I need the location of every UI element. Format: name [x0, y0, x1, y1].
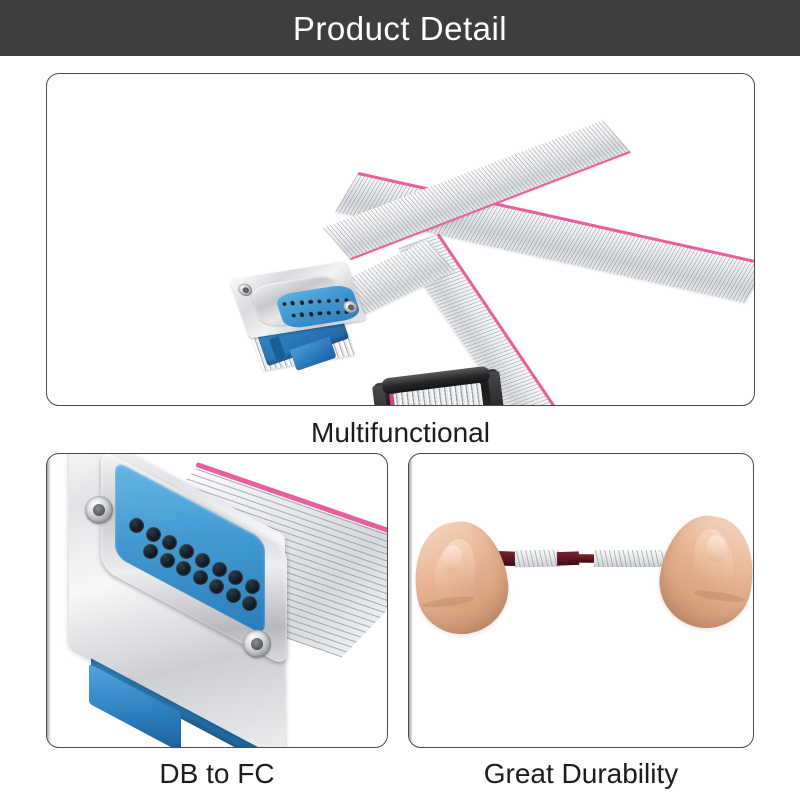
connector-contact-hole	[290, 313, 296, 318]
idc-fc-connector	[373, 363, 505, 406]
caption-db-to-fc: DB to FC	[46, 760, 388, 788]
connector-contact-hole	[335, 310, 341, 315]
ribbon-underside-segment	[557, 551, 580, 565]
connector-contact-hole	[129, 518, 144, 533]
connector-contact-hole	[308, 312, 314, 317]
db15-female-connector-closeup	[63, 474, 333, 724]
product-photo-durability-demo	[409, 454, 753, 747]
connector-contact-hole	[245, 579, 260, 594]
connector-contact-hole	[317, 299, 323, 304]
page-title: Product Detail	[293, 12, 507, 45]
panel-edge-shade	[47, 454, 51, 747]
product-photo-full-cable	[47, 74, 754, 405]
connector-contact-hole	[176, 561, 191, 576]
caption-great-durability: Great Durability	[408, 760, 754, 788]
db15-female-connector-small	[230, 243, 373, 374]
ribbon-topside-segment	[594, 550, 663, 567]
panel-db-to-fc	[46, 453, 388, 748]
connector-contact-hole	[162, 535, 177, 550]
connector-contact-hole	[317, 311, 323, 316]
finger-crease	[693, 588, 746, 604]
connector-contact-hole	[326, 299, 332, 304]
connector-contact-hole	[281, 301, 287, 306]
connector-metal-shell	[249, 273, 350, 328]
connector-contact-hole	[179, 544, 194, 559]
connector-contact-hole	[195, 553, 210, 568]
connector-contact-hole	[326, 311, 332, 316]
ribbon-topside-segment	[515, 550, 560, 568]
connector-contact-hole	[299, 312, 305, 317]
mounting-screw-icon	[243, 630, 271, 658]
connector-contact-hole	[146, 527, 161, 542]
hand-pinching-left	[408, 516, 514, 640]
panel-great-durability	[408, 453, 754, 748]
connector-contact-hole	[226, 588, 241, 603]
connector-contact-hole	[242, 596, 257, 611]
connector-contact-hole	[335, 298, 341, 303]
connector-contact-hole	[160, 553, 175, 568]
connector-contact-hole	[212, 562, 227, 577]
product-photo-connector-closeup	[47, 454, 387, 747]
mounting-screw-icon	[85, 496, 113, 524]
connector-metal-flange	[230, 261, 367, 338]
connector-contact-hole	[143, 544, 158, 559]
hand-pinching-right	[653, 509, 754, 634]
connector-contact-hole	[299, 300, 305, 305]
connector-contact-hole	[290, 301, 296, 306]
connector-body-slot	[269, 336, 286, 360]
connector-contact-hole	[308, 300, 314, 305]
panel-multifunctional	[46, 73, 755, 406]
connector-contact-hole	[193, 570, 208, 585]
connector-contact-hole	[209, 579, 224, 594]
caption-multifunctional: Multifunctional	[46, 419, 755, 447]
page-header: Product Detail	[0, 0, 800, 56]
product-detail-page: Product Detail	[0, 0, 800, 800]
connector-contact-hole	[228, 570, 243, 585]
panel-edge-shade	[409, 454, 413, 747]
